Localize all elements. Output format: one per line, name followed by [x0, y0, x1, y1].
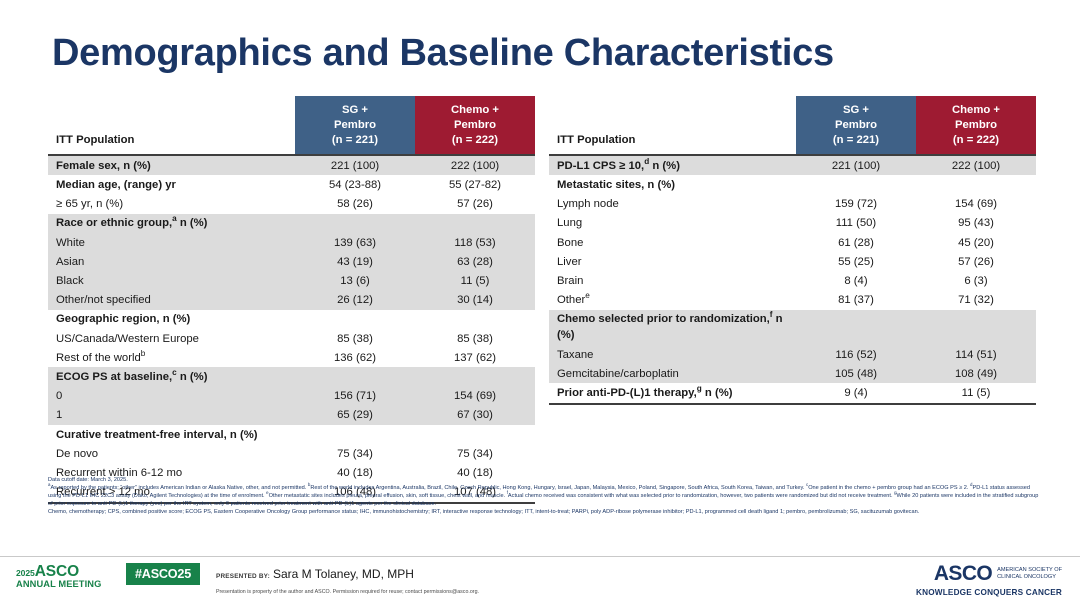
table-row: PD-L1 CPS ≥ 10,d n (%)221 (100)222 (100): [549, 155, 1036, 175]
arm1-line1: SG +: [798, 103, 914, 118]
cell-sg-pembro: 9 (4): [796, 383, 916, 403]
row-label: Metastatic sites, n (%): [549, 175, 796, 194]
table-row: ECOG PS at baseline,c n (%): [48, 367, 535, 386]
table-row: Bone61 (28)45 (20): [549, 233, 1036, 252]
cell-chemo-pembro: [916, 175, 1036, 194]
table-row: 0156 (71)154 (69): [48, 387, 535, 406]
cell-sg-pembro: 221 (100): [295, 155, 415, 175]
cell-chemo-pembro: 57 (26): [916, 252, 1036, 271]
cell-sg-pembro: [295, 214, 415, 233]
table-row: Lung111 (50)95 (43): [549, 214, 1036, 233]
row-label: Brain: [549, 271, 796, 290]
cell-sg-pembro: 55 (25): [796, 252, 916, 271]
arm2-line3: (n = 222): [417, 133, 533, 148]
tables-container: ITT Population SG + Pembro (n = 221) Che…: [48, 96, 1036, 504]
cell-chemo-pembro: 95 (43): [916, 214, 1036, 233]
cell-chemo-pembro: 222 (100): [415, 155, 535, 175]
cell-chemo-pembro: 137 (62): [415, 348, 535, 367]
cell-sg-pembro: 75 (34): [295, 444, 415, 463]
column-header-chemo-pembro: Chemo + Pembro (n = 222): [916, 96, 1036, 155]
cell-sg-pembro: 139 (63): [295, 233, 415, 252]
cell-chemo-pembro: 154 (69): [415, 387, 535, 406]
cell-chemo-pembro: [415, 425, 535, 444]
cell-chemo-pembro: 11 (5): [415, 271, 535, 290]
column-header-sg-pembro: SG + Pembro (n = 221): [295, 96, 415, 155]
row-label: Bone: [549, 233, 796, 252]
column-header-sg-pembro: SG + Pembro (n = 221): [796, 96, 916, 155]
row-label: ECOG PS at baseline,c n (%): [48, 367, 295, 386]
right-table-wrapper: ITT Population SG + Pembro (n = 221) Che…: [549, 96, 1036, 504]
cell-sg-pembro: 221 (100): [796, 155, 916, 175]
row-label: Geographic region, n (%): [48, 310, 295, 329]
row-label: Chemo selected prior to randomization,f …: [549, 310, 796, 345]
presenter-line: PRESENTED BY:Sara M Tolaney, MD, MPH: [216, 565, 479, 583]
row-label: White: [48, 233, 295, 252]
cell-sg-pembro: 116 (52): [796, 345, 916, 364]
cell-chemo-pembro: 11 (5): [916, 383, 1036, 403]
row-label: Race or ethnic group,a n (%): [48, 214, 295, 233]
left-table-body: Female sex, n (%)221 (100)222 (100)Media…: [48, 155, 535, 503]
row-label: 0: [48, 387, 295, 406]
column-header-chemo-pembro: Chemo + Pembro (n = 222): [415, 96, 535, 155]
cell-chemo-pembro: 55 (27-82): [415, 175, 535, 194]
arm1-line3: (n = 221): [297, 133, 413, 148]
cell-chemo-pembro: 67 (30): [415, 406, 535, 425]
cell-sg-pembro: 156 (71): [295, 387, 415, 406]
row-label: Liver: [549, 252, 796, 271]
cell-chemo-pembro: 114 (51): [916, 345, 1036, 364]
cell-chemo-pembro: 154 (69): [916, 194, 1036, 213]
fn-text-c: One patient in the chemo + pembro group …: [808, 485, 970, 491]
asco-wordmark: ASCO: [35, 563, 79, 580]
footnote-data-cutoff: Data cutoff date: March 3, 2025.: [48, 477, 1043, 485]
asco-logo-text: ASCO: [934, 562, 992, 585]
presenter-block: PRESENTED BY:Sara M Tolaney, MD, MPH Pre…: [216, 565, 479, 595]
table-row: Curative treatment-free interval, n (%): [48, 425, 535, 444]
cell-sg-pembro: 58 (26): [295, 194, 415, 213]
table-row: De novo75 (34)75 (34): [48, 444, 535, 463]
cell-sg-pembro: 105 (48): [796, 364, 916, 383]
footer-divider: [0, 556, 1080, 557]
cell-chemo-pembro: 30 (14): [415, 291, 535, 310]
table-row: Prior anti-PD-(L)1 therapy,g n (%)9 (4)1…: [549, 383, 1036, 403]
table-row: Othere81 (37)71 (32): [549, 291, 1036, 310]
row-label: US/Canada/Western Europe: [48, 329, 295, 348]
row-label: Rest of the worldb: [48, 348, 295, 367]
table-row: Asian43 (19)63 (28): [48, 252, 535, 271]
fn-text-f: Actual chemo received was consistent wit…: [508, 493, 894, 499]
row-label: Curative treatment-free interval, n (%): [48, 425, 295, 444]
column-header-population: ITT Population: [48, 96, 295, 155]
table-row: White139 (63)118 (53): [48, 233, 535, 252]
cell-chemo-pembro: [415, 367, 535, 386]
page-title: Demographics and Baseline Characteristic…: [52, 32, 834, 75]
table-row: Brain8 (4)6 (3): [549, 271, 1036, 290]
footnotes: Data cutoff date: March 3, 2025. aAs rep…: [48, 477, 1043, 517]
row-label: 1: [48, 406, 295, 425]
table-header-row: ITT Population SG + Pembro (n = 221) Che…: [549, 96, 1036, 155]
row-label: Othere: [549, 291, 796, 310]
cell-sg-pembro: [796, 310, 916, 345]
arm2-line3: (n = 222): [918, 133, 1034, 148]
table-row: Lymph node159 (72)154 (69): [549, 194, 1036, 213]
cell-sg-pembro: 26 (12): [295, 291, 415, 310]
table-row: Female sex, n (%)221 (100)222 (100): [48, 155, 535, 175]
arm1-line2: Pembro: [798, 118, 914, 133]
table-row: Black13 (6)11 (5): [48, 271, 535, 290]
cell-chemo-pembro: 6 (3): [916, 271, 1036, 290]
arm1-line1: SG +: [297, 103, 413, 118]
arm2-line2: Pembro: [918, 118, 1034, 133]
permission-notice: Presentation is property of the author a…: [216, 589, 479, 595]
asco-annual-meeting-logo: 2025ASCO ANNUAL MEETING: [16, 564, 101, 589]
footnote-marker: b: [141, 349, 146, 358]
table-row: Rest of the worldb136 (62)137 (62): [48, 348, 535, 367]
arm1-line3: (n = 221): [798, 133, 914, 148]
asco-society-logo: ASCO AMERICAN SOCIETY OF CLINICAL ONCOLO…: [916, 562, 1062, 597]
cell-chemo-pembro: 222 (100): [916, 155, 1036, 175]
footnote-marker: d: [644, 157, 649, 166]
fn-text-b: Rest of the world includes Argentina, Au…: [310, 485, 806, 491]
cell-sg-pembro: 159 (72): [796, 194, 916, 213]
cell-chemo-pembro: [415, 310, 535, 329]
row-label: Lymph node: [549, 194, 796, 213]
asco-society-name: AMERICAN SOCIETY OF CLINICAL ONCOLOGY: [997, 567, 1062, 581]
demographics-table-right: ITT Population SG + Pembro (n = 221) Che…: [549, 96, 1036, 405]
table-row: Median age, (range) yr54 (23-88)55 (27-8…: [48, 175, 535, 194]
row-label: Gemcitabine/carboplatin: [549, 364, 796, 383]
table-row: Metastatic sites, n (%): [549, 175, 1036, 194]
asco-tagline: KNOWLEDGE CONQUERS CANCER: [916, 588, 1062, 597]
fn-text-a: As reported by the patients; “other” inc…: [50, 485, 307, 491]
table-row: Liver55 (25)57 (26): [549, 252, 1036, 271]
row-label: Lung: [549, 214, 796, 233]
cell-sg-pembro: [295, 425, 415, 444]
footnote-marker: c: [172, 368, 177, 377]
table-row: 165 (29)67 (30): [48, 406, 535, 425]
column-header-population: ITT Population: [549, 96, 796, 155]
row-label: Median age, (range) yr: [48, 175, 295, 194]
cell-sg-pembro: 54 (23-88): [295, 175, 415, 194]
cell-sg-pembro: 85 (38): [295, 329, 415, 348]
asco-logo-wordmark: ASCO: [934, 562, 992, 586]
cell-sg-pembro: 13 (6): [295, 271, 415, 290]
meeting-year: 2025: [16, 568, 35, 578]
table-row: Geographic region, n (%): [48, 310, 535, 329]
left-table-wrapper: ITT Population SG + Pembro (n = 221) Che…: [48, 96, 535, 504]
arm1-line2: Pembro: [297, 118, 413, 133]
cell-sg-pembro: [796, 175, 916, 194]
row-label: Other/not specified: [48, 291, 295, 310]
footnote-marker: g: [697, 384, 702, 393]
footnote-marker: e: [585, 291, 590, 300]
society-line2: CLINICAL ONCOLOGY: [997, 574, 1062, 581]
row-label: Asian: [48, 252, 295, 271]
cell-sg-pembro: 81 (37): [796, 291, 916, 310]
cell-sg-pembro: 111 (50): [796, 214, 916, 233]
footnote-marker: f: [770, 311, 773, 320]
cell-chemo-pembro: 75 (34): [415, 444, 535, 463]
cell-sg-pembro: [295, 367, 415, 386]
row-label: ≥ 65 yr, n (%): [48, 194, 295, 213]
asco-logo-row: ASCO AMERICAN SOCIETY OF CLINICAL ONCOLO…: [916, 562, 1062, 586]
slide-footer: 2025ASCO ANNUAL MEETING #ASCO25 PRESENTE…: [0, 558, 1080, 616]
row-label: Prior anti-PD-(L)1 therapy,g n (%): [549, 383, 796, 403]
table-row: US/Canada/Western Europe85 (38)85 (38): [48, 329, 535, 348]
table-row: Taxane116 (52)114 (51): [549, 345, 1036, 364]
meeting-logo-line1: 2025ASCO: [16, 564, 101, 580]
cell-chemo-pembro: 118 (53): [415, 233, 535, 252]
cell-chemo-pembro: [916, 310, 1036, 345]
table-row: ≥ 65 yr, n (%)58 (26)57 (26): [48, 194, 535, 213]
footnote-abbreviations: Chemo, chemotherapy; CPS, combined posit…: [48, 509, 1043, 517]
cell-sg-pembro: 8 (4): [796, 271, 916, 290]
row-label: Taxane: [549, 345, 796, 364]
row-label: Female sex, n (%): [48, 155, 295, 175]
cell-chemo-pembro: 108 (49): [916, 364, 1036, 383]
fn-text-e: Other metastatic sites includes pleura, …: [269, 493, 507, 499]
arm2-line2: Pembro: [417, 118, 533, 133]
arm2-line1: Chemo +: [918, 103, 1034, 118]
right-table-body: PD-L1 CPS ≥ 10,d n (%)221 (100)222 (100)…: [549, 155, 1036, 404]
presenter-name: Sara M Tolaney, MD, MPH: [270, 567, 414, 581]
cell-sg-pembro: [295, 310, 415, 329]
presented-by-label: PRESENTED BY:: [216, 573, 270, 580]
table-row: Gemcitabine/carboplatin105 (48)108 (49): [549, 364, 1036, 383]
row-label: Black: [48, 271, 295, 290]
table-row: Race or ethnic group,a n (%): [48, 214, 535, 233]
cell-sg-pembro: 65 (29): [295, 406, 415, 425]
cell-sg-pembro: 43 (19): [295, 252, 415, 271]
cell-chemo-pembro: 57 (26): [415, 194, 535, 213]
table-header-row: ITT Population SG + Pembro (n = 221) Che…: [48, 96, 535, 155]
footnote-definitions: aAs reported by the patients; “other” in…: [48, 485, 1043, 508]
cell-chemo-pembro: 71 (32): [916, 291, 1036, 310]
demographics-table-left: ITT Population SG + Pembro (n = 221) Che…: [48, 96, 535, 504]
cell-chemo-pembro: 63 (28): [415, 252, 535, 271]
table-row: Chemo selected prior to randomization,f …: [549, 310, 1036, 345]
hashtag-badge: #ASCO25: [126, 563, 200, 585]
society-line1: AMERICAN SOCIETY OF: [997, 567, 1062, 574]
cell-chemo-pembro: 45 (20): [916, 233, 1036, 252]
meeting-subtitle: ANNUAL MEETING: [16, 580, 101, 589]
footnote-marker: a: [172, 215, 177, 224]
row-label: PD-L1 CPS ≥ 10,d n (%): [549, 155, 796, 175]
cell-chemo-pembro: 85 (38): [415, 329, 535, 348]
cell-sg-pembro: 136 (62): [295, 348, 415, 367]
cell-sg-pembro: 61 (28): [796, 233, 916, 252]
table-row: Other/not specified26 (12)30 (14): [48, 291, 535, 310]
arm2-line1: Chemo +: [417, 103, 533, 118]
cell-chemo-pembro: [415, 214, 535, 233]
row-label: De novo: [48, 444, 295, 463]
